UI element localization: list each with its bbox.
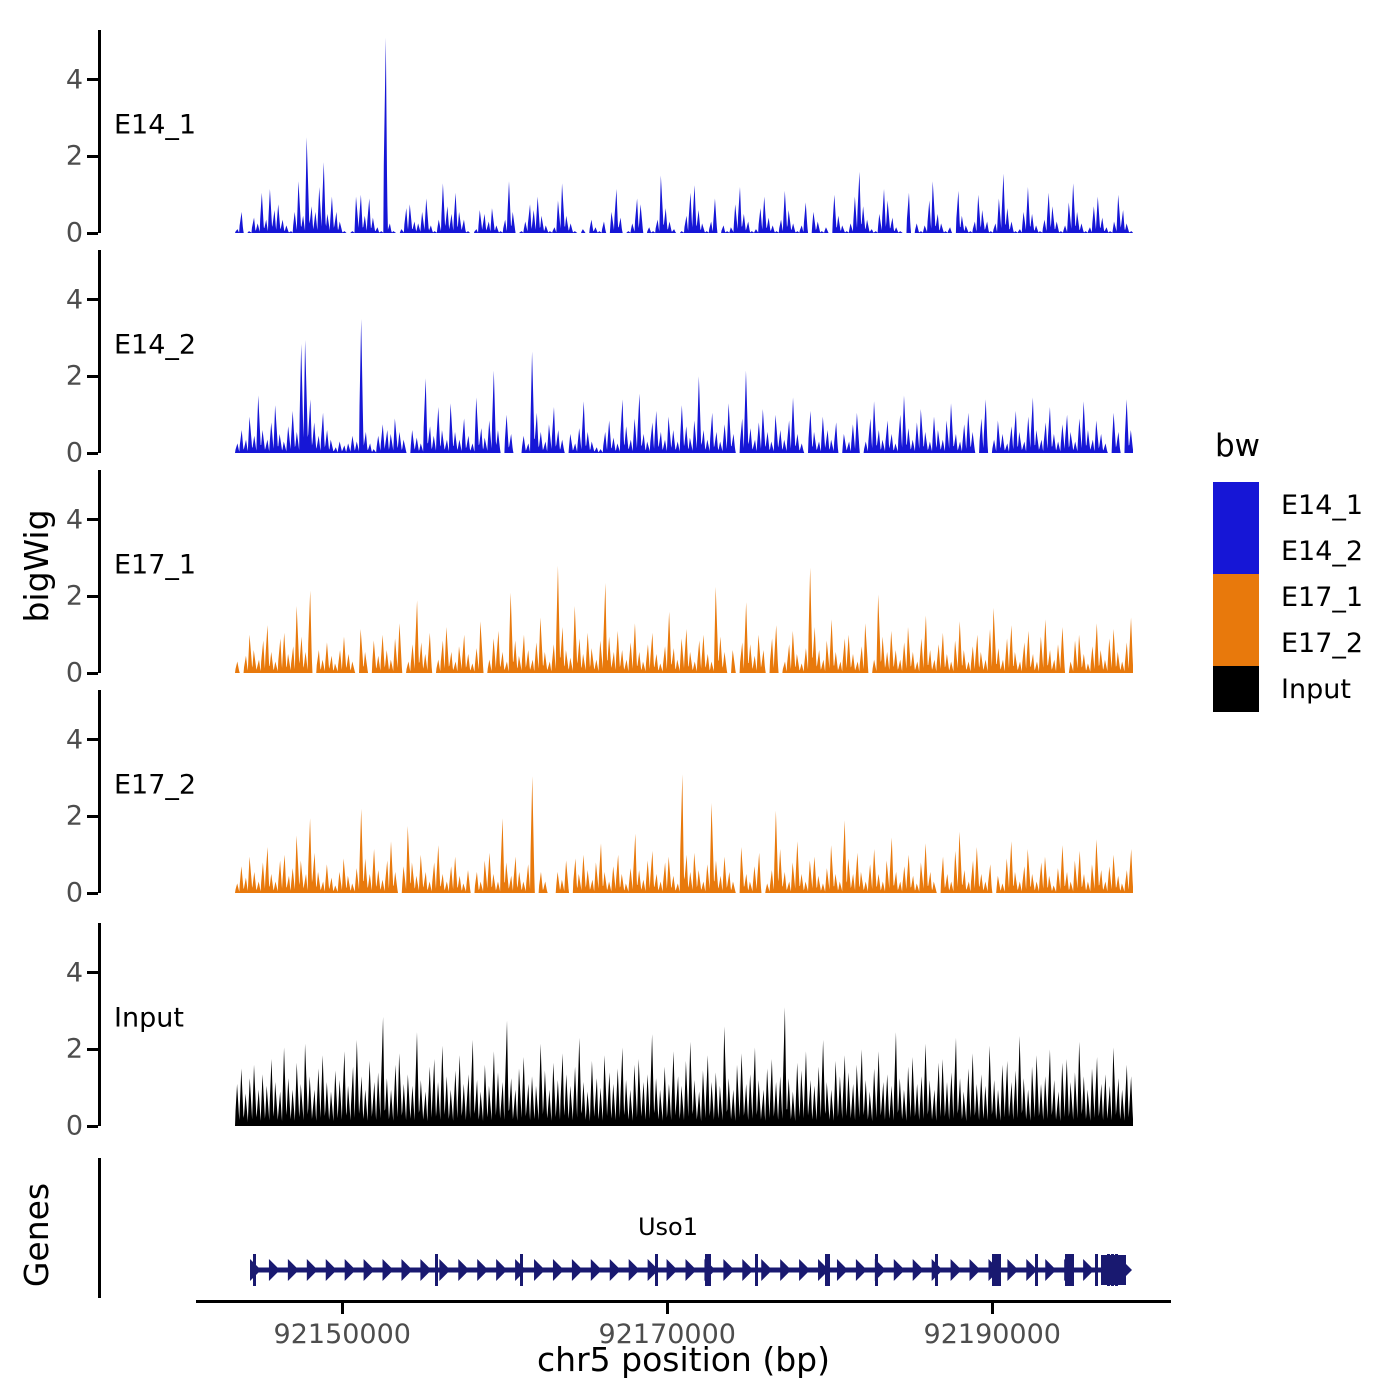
gene-terminal-exon-block [1101, 1255, 1126, 1285]
legend-swatch [1213, 528, 1259, 574]
y-tick [87, 452, 98, 455]
y-tick-label: 0 [66, 878, 83, 909]
gene-exon-mark [755, 1254, 758, 1286]
legend-swatch [1213, 574, 1259, 620]
y-tick-label: 4 [66, 64, 83, 95]
gene-strand-arrow [269, 1259, 280, 1281]
gene-strand-arrow [420, 1259, 431, 1281]
x-tick [991, 1303, 994, 1314]
gene-strand-arrow [326, 1259, 337, 1281]
gene-strand-arrow [856, 1259, 867, 1281]
y-tick [87, 892, 98, 895]
genes-axis-line [98, 1158, 101, 1298]
gene-exon-mark [1065, 1254, 1068, 1286]
gene-strand-arrow [951, 1259, 962, 1281]
y-tick [87, 298, 98, 301]
gene-strand-arrow [364, 1259, 375, 1281]
y-tick-label: 4 [66, 504, 83, 535]
y-tick-label: 2 [66, 141, 83, 172]
track-label-input: Input [114, 1003, 184, 1034]
gene-exon-mark [935, 1254, 938, 1286]
x-tick [341, 1303, 344, 1314]
gene-strand-arrow [1007, 1259, 1018, 1281]
gene-strand-arrow [723, 1259, 734, 1281]
y-tick [87, 232, 98, 235]
gene-exon-mark [992, 1254, 995, 1286]
track-plot-area [235, 690, 1133, 893]
gene-strand-arrow [742, 1259, 753, 1281]
gene-exon-mark [655, 1254, 658, 1286]
y-tick [87, 155, 98, 158]
legend-swatch [1213, 666, 1259, 712]
gene-strand-arrow [439, 1259, 450, 1281]
genes-panel: Uso1 [98, 1158, 1133, 1298]
legend: bw E14_1E14_2E17_1E17_2Input [1213, 428, 1363, 712]
legend-item-e14_2[interactable]: E14_2 [1213, 528, 1363, 574]
legend-title: bw [1215, 428, 1363, 464]
gene-exon-mark [253, 1254, 256, 1286]
y-tick [87, 78, 98, 81]
y-tick-label: 4 [66, 284, 83, 315]
gene-strand-arrow [913, 1259, 924, 1281]
legend-item-label: Input [1281, 674, 1351, 705]
y-tick [87, 1048, 98, 1051]
y-axis-line [98, 923, 101, 1126]
legend-item-e17_2[interactable]: E17_2 [1213, 620, 1363, 666]
gene-strand-arrow [591, 1259, 602, 1281]
legend-item-e14_1[interactable]: E14_1 [1213, 482, 1363, 528]
gene-strand-arrow [837, 1259, 848, 1281]
track-panel-input: 024Input [98, 923, 1133, 1126]
legend-items: E14_1E14_2E17_1E17_2Input [1213, 482, 1363, 712]
track-wiggle-e17_1 [235, 566, 1133, 673]
y-tick-label: 0 [66, 658, 83, 689]
y-axis-line [98, 690, 101, 893]
track-label-e17_2: E17_2 [114, 770, 196, 801]
x-tick [666, 1303, 669, 1314]
y-tick-label: 2 [66, 1034, 83, 1065]
y-tick [87, 738, 98, 741]
gene-strand-arrow [610, 1259, 621, 1281]
legend-item-label: E17_1 [1281, 582, 1363, 613]
gene-strand-arrow [345, 1259, 356, 1281]
y-tick [87, 672, 98, 675]
y-tick-label: 4 [66, 957, 83, 988]
y-tick-label: 2 [66, 361, 83, 392]
y-tick [87, 971, 98, 974]
gene-strand-arrow [970, 1259, 981, 1281]
gene-strand-arrow [553, 1259, 564, 1281]
gene-exon-mark [705, 1254, 708, 1286]
gene-strand-arrow [799, 1259, 810, 1281]
track-wiggle-e14_1 [235, 38, 1133, 233]
gene-exon-mark [1068, 1254, 1071, 1286]
y-tick-label: 4 [66, 724, 83, 755]
legend-item-e17_1[interactable]: E17_1 [1213, 574, 1363, 620]
gene-strand-arrow [761, 1259, 772, 1281]
gene-strand-arrow [288, 1259, 299, 1281]
gene-strand-arrow [401, 1259, 412, 1281]
gene-strand-arrow [629, 1259, 640, 1281]
y-tick [87, 518, 98, 521]
track-wiggle-input [235, 1007, 1133, 1126]
gene-strand-arrow [534, 1259, 545, 1281]
legend-item-label: E14_1 [1281, 490, 1363, 521]
y-tick-label: 0 [66, 1111, 83, 1142]
track-plot-area [235, 250, 1133, 453]
gene-exon-mark [995, 1254, 998, 1286]
gene-strand-arrow [383, 1259, 394, 1281]
y-axis-line [98, 30, 101, 233]
y-tick-label: 2 [66, 581, 83, 612]
track-panel-e14_2: 024E14_2 [98, 250, 1133, 453]
track-plot-area [235, 470, 1133, 673]
y-axis-title: bigWig [17, 466, 57, 666]
y-tick [87, 1125, 98, 1128]
y-tick [87, 595, 98, 598]
gene-exon-mark [708, 1254, 711, 1286]
y-tick-label: 0 [66, 438, 83, 469]
gene-strand-arrow [572, 1259, 583, 1281]
gene-strand-arrow [1045, 1259, 1056, 1281]
gene-exon-mark [875, 1254, 878, 1286]
y-tick-label: 0 [66, 218, 83, 249]
track-label-e14_1: E14_1 [114, 110, 196, 141]
gene-exon-mark [1071, 1254, 1074, 1286]
track-panel-e17_2: 024E17_2 [98, 690, 1133, 893]
y-tick [87, 375, 98, 378]
gene-model-area [235, 1158, 1133, 1298]
gene-exon-mark [1035, 1254, 1038, 1286]
legend-swatch [1213, 482, 1259, 528]
gene-exon-mark [520, 1254, 523, 1286]
gene-strand-arrow [780, 1259, 791, 1281]
gene-strand-arrow [458, 1259, 469, 1281]
track-label-e14_2: E14_2 [114, 330, 196, 361]
legend-swatch [1213, 620, 1259, 666]
track-panel-e14_1: 024E14_1 [98, 30, 1133, 233]
gene-strand-arrow [307, 1259, 318, 1281]
x-axis-title: chr5 position (bp) [196, 1340, 1171, 1379]
track-plot-area [235, 923, 1133, 1126]
gene-exon-mark [998, 1254, 1001, 1286]
gene-exon-mark [827, 1254, 830, 1286]
track-plot-area [235, 30, 1133, 233]
track-wiggle-e17_2 [235, 774, 1133, 893]
legend-item-input[interactable]: Input [1213, 666, 1363, 712]
y-tick-label: 2 [66, 801, 83, 832]
plot-root: bigWig Genes 024E14_1024E14_2024E17_1024… [0, 0, 1400, 1400]
track-panel-e17_1: 024E17_1 [98, 470, 1133, 673]
legend-item-label: E14_2 [1281, 536, 1363, 567]
track-label-e17_1: E17_1 [114, 550, 196, 581]
gene-strand-arrow [667, 1259, 678, 1281]
legend-item-label: E17_2 [1281, 628, 1363, 659]
y-tick [87, 815, 98, 818]
gene-strand-arrow [894, 1259, 905, 1281]
gene-strand-arrow [1083, 1259, 1094, 1281]
gene-exon-mark [435, 1254, 438, 1286]
gene-strand-arrow [477, 1259, 488, 1281]
gene-strand-arrow [496, 1259, 507, 1281]
gene-strand-arrow [686, 1259, 697, 1281]
y-axis-line [98, 250, 101, 453]
genes-axis-title: Genes [17, 1160, 57, 1310]
gene-exon-mark [1095, 1254, 1098, 1286]
track-wiggle-e14_2 [235, 319, 1133, 453]
y-axis-line [98, 470, 101, 673]
